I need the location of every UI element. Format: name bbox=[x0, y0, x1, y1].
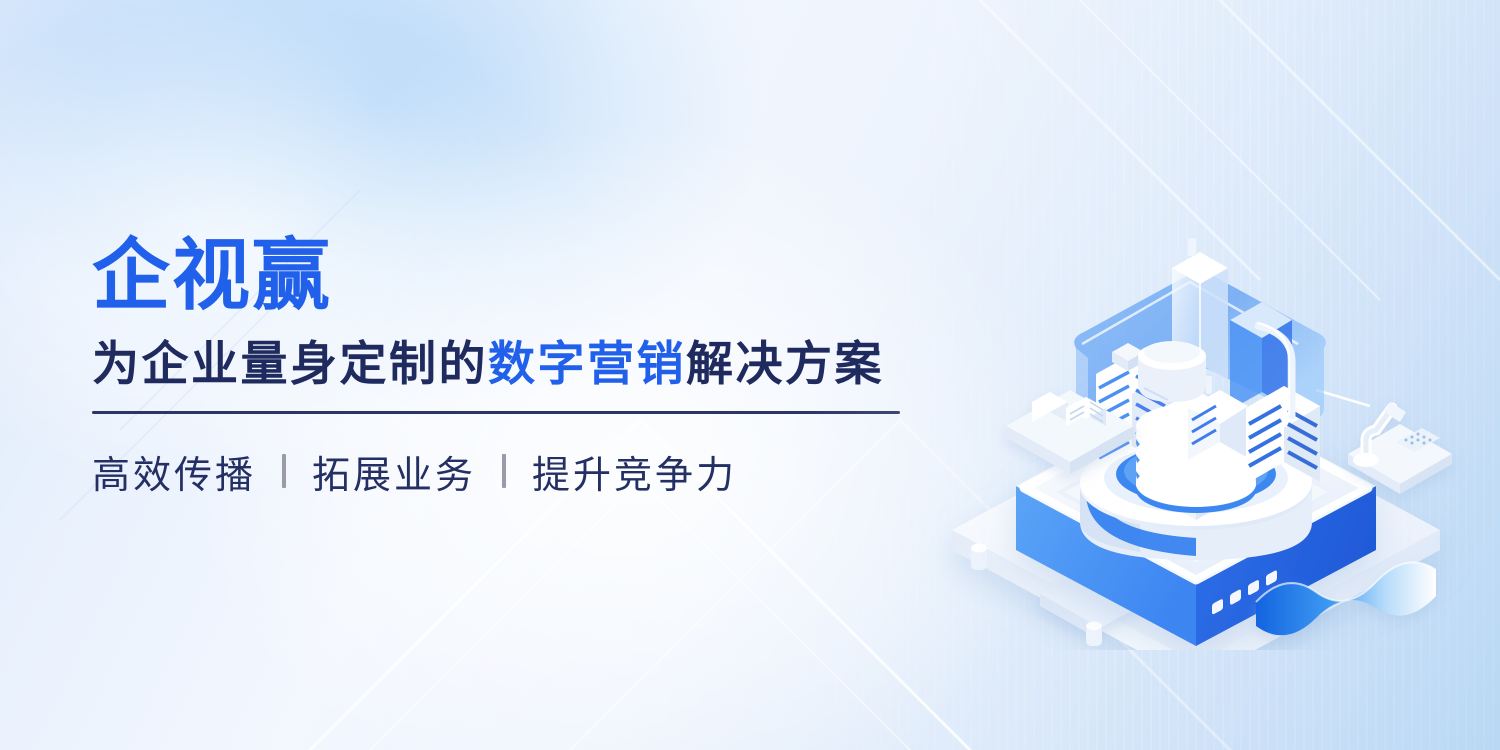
brand-title: 企视赢 bbox=[92, 236, 952, 314]
headline-accent: 数字营销 bbox=[488, 337, 686, 390]
headline-suffix: 解决方案 bbox=[686, 337, 884, 390]
hero-text-block: 企视赢 为企业量身定制的数字营销解决方案 高效传播 拓展业务 提升竞争力 bbox=[92, 236, 952, 499]
building-cylinder-tank bbox=[1138, 341, 1206, 402]
tagline-item-3: 提升竞争力 bbox=[532, 444, 737, 499]
tagline-list: 高效传播 拓展业务 提升竞争力 bbox=[92, 444, 952, 499]
isometric-smart-city-illustration bbox=[900, 230, 1500, 650]
headline-prefix: 为企业量身定制的 bbox=[92, 337, 488, 390]
tagline-separator-2 bbox=[502, 454, 506, 488]
tagline-separator-1 bbox=[282, 454, 286, 488]
tagline-item-2: 拓展业务 bbox=[312, 444, 476, 499]
tagline-item-1: 高效传播 bbox=[92, 444, 256, 499]
divider-rule bbox=[92, 411, 900, 414]
hero-banner: 企视赢 为企业量身定制的数字营销解决方案 高效传播 拓展业务 提升竞争力 bbox=[0, 0, 1500, 750]
headline: 为企业量身定制的数字营销解决方案 bbox=[92, 338, 952, 391]
